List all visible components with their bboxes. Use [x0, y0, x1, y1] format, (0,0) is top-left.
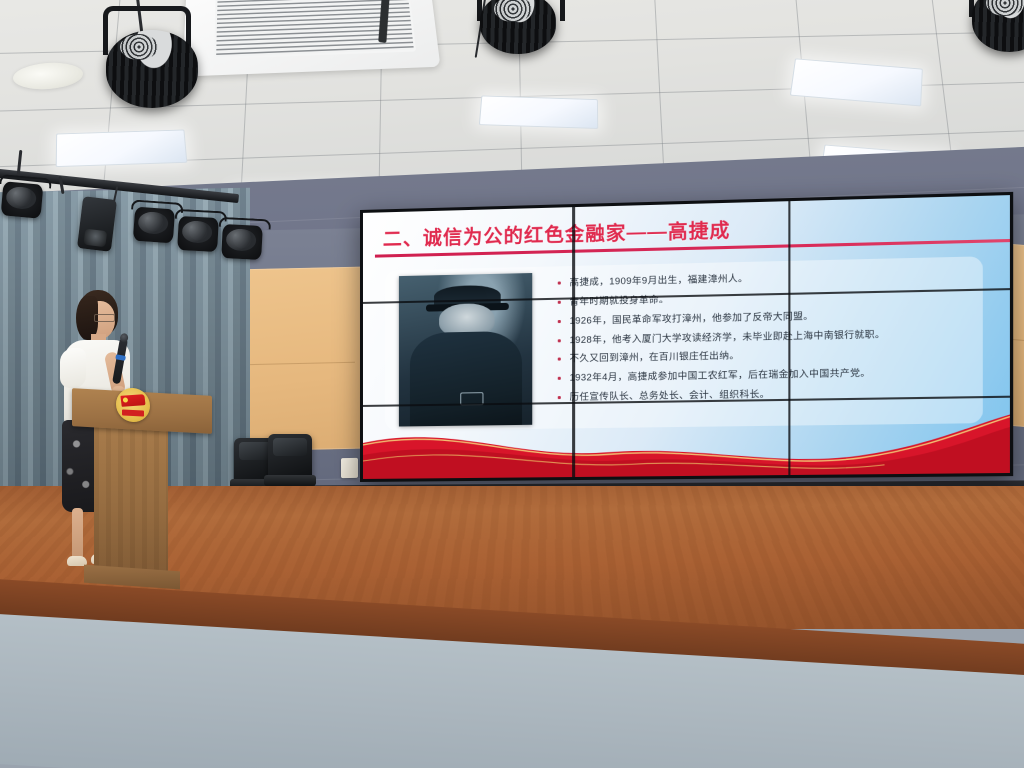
portrait-photo [399, 273, 533, 426]
led-panel-light-1 [56, 129, 188, 167]
red-flag-icon [120, 394, 145, 407]
wall-acoustic-panel-left [238, 267, 362, 452]
led-panel-light-3 [479, 95, 598, 128]
lcd-video-wall[interactable]: 二、诚信为公的红色金融家——高捷成 高捷成，1909年9月出生，福建漳州人。 青… [360, 192, 1013, 482]
par-light-1 [1, 181, 44, 218]
portrait-pocket [460, 392, 483, 405]
podium-body [94, 423, 168, 580]
presenter-sleeve [60, 348, 86, 388]
moving-head-light-truss [77, 196, 117, 252]
presenter-glasses [94, 314, 115, 322]
spotlight-body [106, 30, 198, 108]
lecture-hall-scene: 二、诚信为公的红色金融家——高捷成 高捷成，1909年9月出生，福建漳州人。 青… [0, 0, 1024, 768]
floor-moving-head-2 [268, 434, 312, 480]
slide-bullet-area: 高捷成，1909年9月出生，福建漳州人。 青年时期就投身革命。 1926年，国民… [556, 265, 964, 422]
cassette-air-conditioner [183, 0, 441, 77]
slide-content-card: 高捷成，1909年9月出生，福建漳州人。 青年时期就投身革命。 1926年，国民… [385, 256, 983, 430]
par-light-3 [177, 216, 219, 252]
fixture-base [264, 475, 316, 486]
podium [72, 392, 212, 594]
slide-title: 二、诚信为公的红色金融家——高捷成 [383, 215, 731, 251]
emblem-band [122, 409, 144, 416]
par-light-4 [221, 224, 263, 260]
slide-red-wave-graphic [363, 412, 1010, 479]
portrait-uniform [410, 331, 522, 426]
power-outlet [341, 458, 358, 478]
par-light-2 [133, 207, 175, 244]
slide-bullet-list: 高捷成，1909年9月出生，福建漳州人。 青年时期就投身革命。 1926年，国民… [556, 265, 964, 407]
presentation-slide: 二、诚信为公的红色金融家——高捷成 高捷成，1909年9月出生，福建漳州人。 青… [363, 195, 1010, 479]
